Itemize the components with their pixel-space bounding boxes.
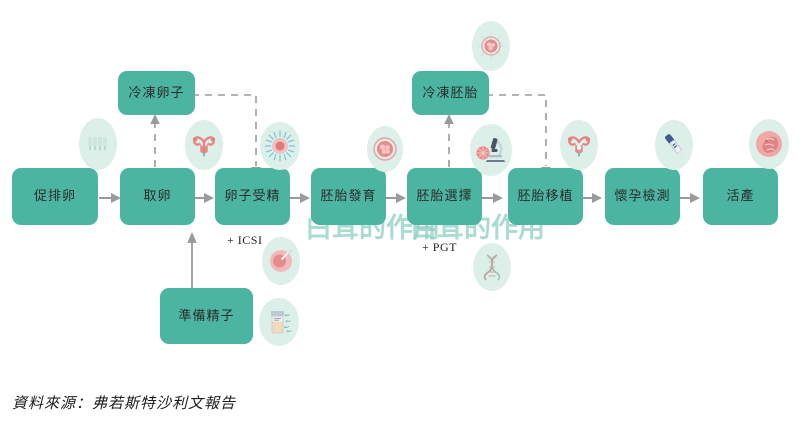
node-ovarian-stimulation-label: 促排卵	[34, 188, 76, 204]
uterus-icon	[185, 120, 223, 170]
flow-arrow-3	[288, 191, 313, 205]
flow-arrow-7	[678, 191, 703, 205]
node-fertilization-label: 卵子受精	[224, 188, 280, 204]
node-embryo-development-label: 胚胎發育	[320, 188, 376, 204]
node-embryo-transfer[interactable]: 胚胎移植	[508, 168, 583, 225]
node-egg-retrieval-label: 取卵	[143, 188, 171, 204]
flow-arrow-6	[580, 191, 605, 205]
egg-fertilization-icon	[260, 122, 300, 170]
node-prepare-sperm-label: 準備精子	[178, 308, 234, 324]
node-freeze-embryo[interactable]: 冷凍胚胎	[412, 71, 489, 115]
node-freeze-embryo-label: 冷凍胚胎	[422, 85, 478, 101]
node-embryo-selection-label: 胚胎選擇	[416, 188, 472, 204]
node-live-birth[interactable]: 活產	[703, 168, 778, 225]
diagram-canvas: 白茸的作用 白茸的作用	[0, 0, 807, 426]
node-embryo-development[interactable]: 胚胎發育	[311, 168, 386, 225]
embryo-cell-icon	[367, 126, 403, 172]
annotation-icsi: + ICSI	[227, 233, 262, 248]
node-fertilization[interactable]: 卵子受精	[215, 168, 290, 225]
newborn-baby-icon	[749, 119, 789, 169]
annotation-pgt: + PGT	[422, 240, 457, 255]
node-freeze-eggs[interactable]: 冷凍卵子	[118, 71, 195, 115]
node-live-birth-label: 活產	[726, 188, 754, 204]
dna-helix-icon	[473, 243, 511, 291]
flow-arrow-4	[384, 191, 409, 205]
icsi-egg-needle-icon	[262, 237, 300, 285]
flow-arrow-2	[192, 191, 217, 205]
node-pregnancy-test[interactable]: 懷孕檢測	[605, 168, 680, 225]
node-egg-retrieval[interactable]: 取卵	[120, 168, 195, 225]
microscope-icon	[470, 124, 512, 176]
connector-sperm-to-fertilization	[185, 231, 199, 293]
node-embryo-transfer-label: 胚胎移植	[517, 188, 573, 204]
source-note: 資料來源：弗若斯特沙利文報告	[12, 392, 236, 413]
uterus-transfer-icon	[560, 120, 598, 170]
flow-arrow-5	[481, 191, 506, 205]
node-pregnancy-test-label: 懷孕檢測	[614, 188, 670, 204]
node-prepare-sperm[interactable]: 準備精子	[160, 288, 253, 344]
sperm-sample-container-icon	[259, 298, 299, 346]
pregnancy-test-stick-icon	[655, 120, 693, 170]
frozen-embryo-icon	[472, 21, 510, 71]
node-ovarian-stimulation[interactable]: 促排卵	[12, 168, 98, 225]
node-freeze-eggs-label: 冷凍卵子	[128, 85, 184, 101]
injection-syringes-icon	[79, 118, 117, 170]
node-embryo-selection[interactable]: 胚胎選擇	[407, 168, 482, 225]
